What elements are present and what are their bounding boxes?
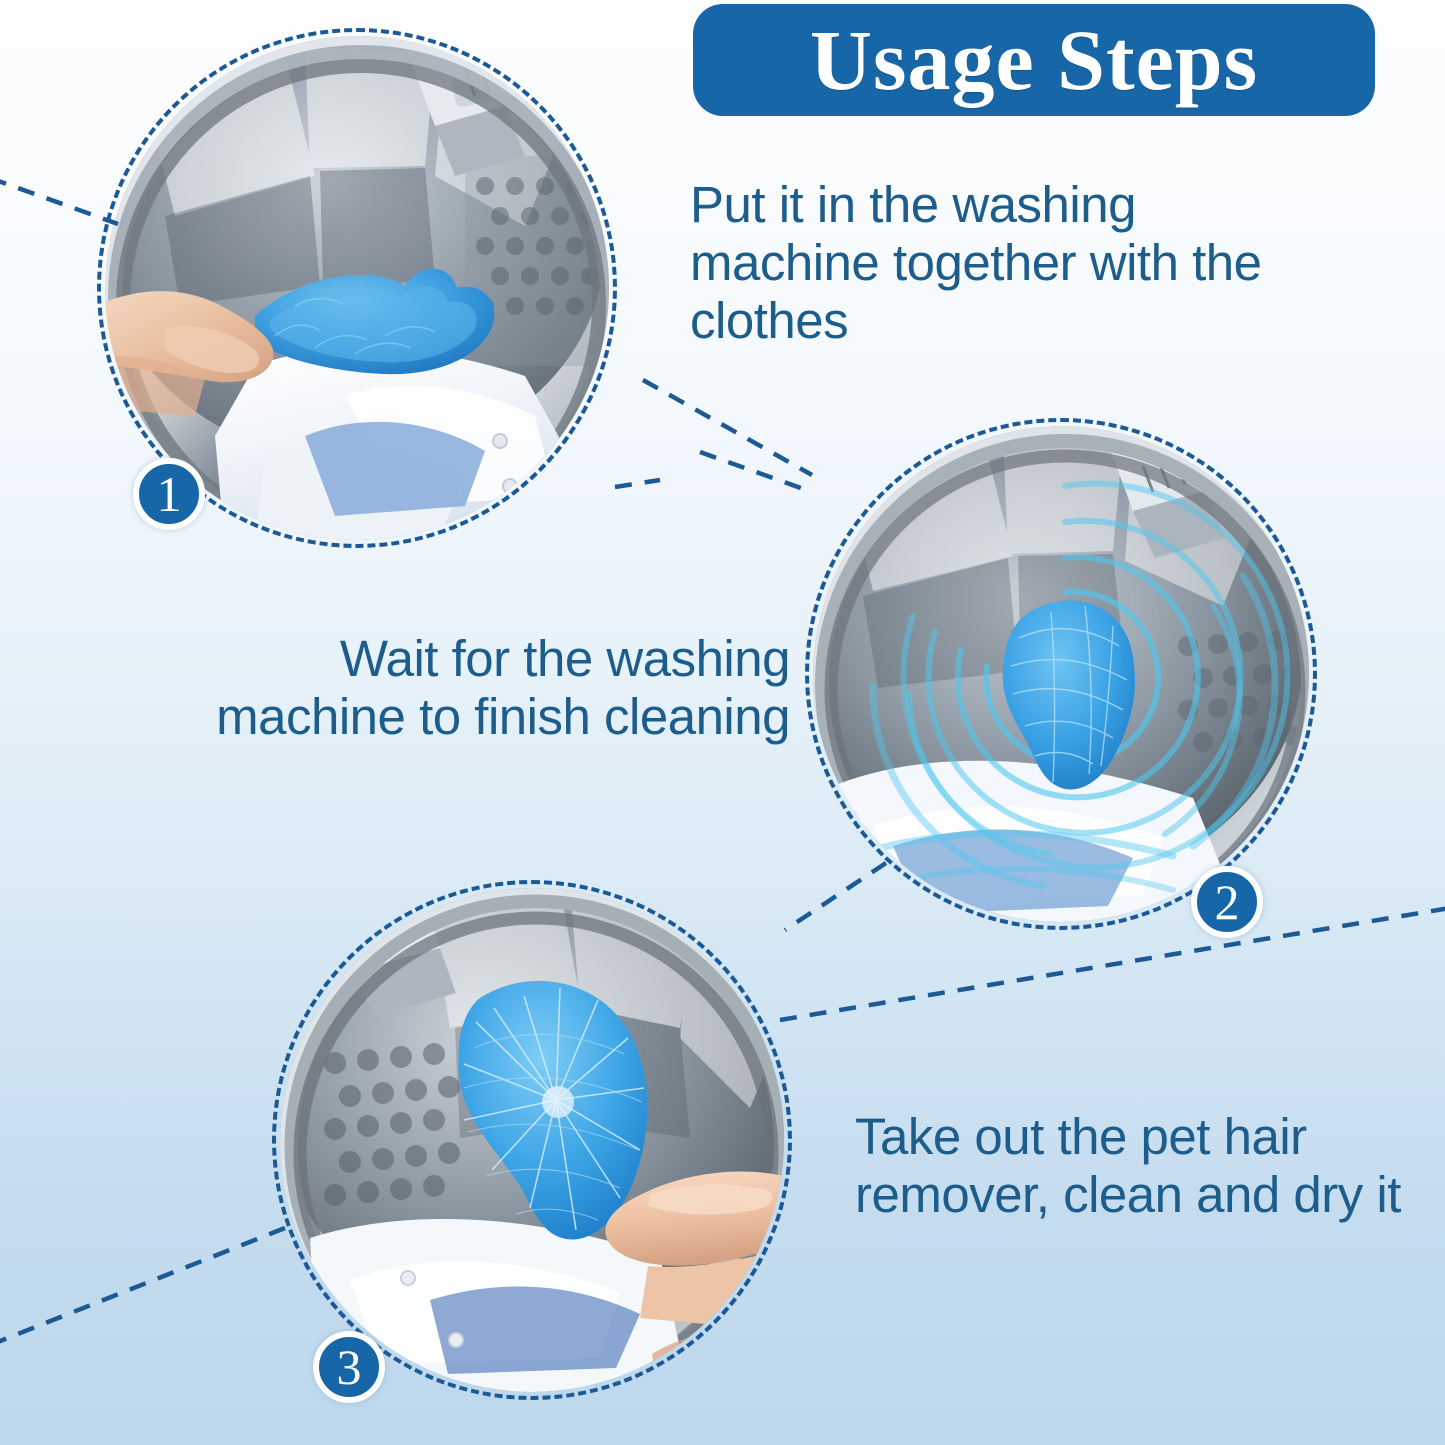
step-3-photo: [272, 880, 792, 1400]
step-2-number-badge: 2: [1191, 866, 1263, 938]
connector-circle2-left-stub: [700, 452, 812, 492]
connector-circle2-to-circle3: [785, 863, 886, 930]
connector-left-to-circle1: [0, 178, 118, 224]
step-1-text: Put it in the washing machine together w…: [690, 176, 1320, 350]
step-3-text: Take out the pet hair remover, clean and…: [855, 1108, 1435, 1224]
page-title: Usage Steps: [810, 17, 1258, 103]
step-1-number-badge: 1: [133, 458, 205, 530]
step-2-text: Wait for the washing machine to finish c…: [190, 630, 790, 746]
connector-circle1-right-stub: [615, 480, 660, 487]
step-3-number: 3: [337, 1342, 362, 1392]
connector-circle1-to-circle2: [643, 380, 812, 475]
washing-machine-spinning-illustration-2: [813, 426, 1309, 922]
step-2-photo: [805, 418, 1317, 930]
step-3-number-badge: 3: [313, 1331, 385, 1403]
step-1-number: 1: [157, 469, 182, 519]
washing-machine-removal-illustration-3: [280, 888, 784, 1392]
connector-circle3-to-bottom-left: [0, 1228, 285, 1345]
step-2-number: 2: [1215, 877, 1240, 927]
page-title-banner: Usage Steps: [693, 4, 1375, 116]
step-3-photo-inner: [280, 888, 784, 1392]
connector-circle3-to-right: [780, 908, 1445, 1020]
step-2-photo-inner: [813, 426, 1309, 922]
